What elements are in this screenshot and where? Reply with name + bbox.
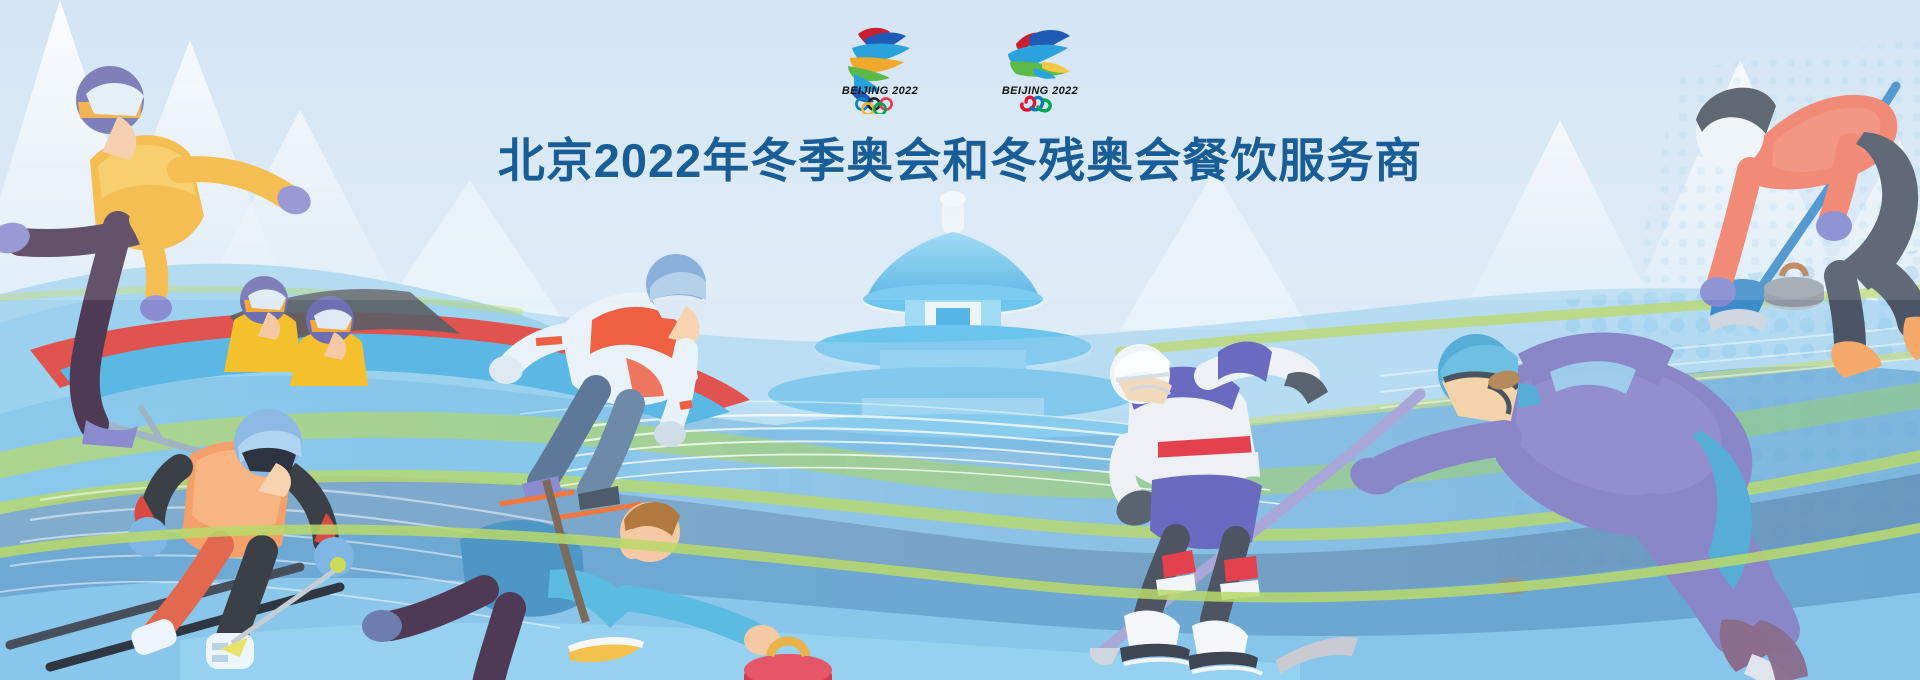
illustration-layer [0, 0, 1920, 680]
olympic-banner: BEIJING 2022 [0, 0, 1920, 680]
